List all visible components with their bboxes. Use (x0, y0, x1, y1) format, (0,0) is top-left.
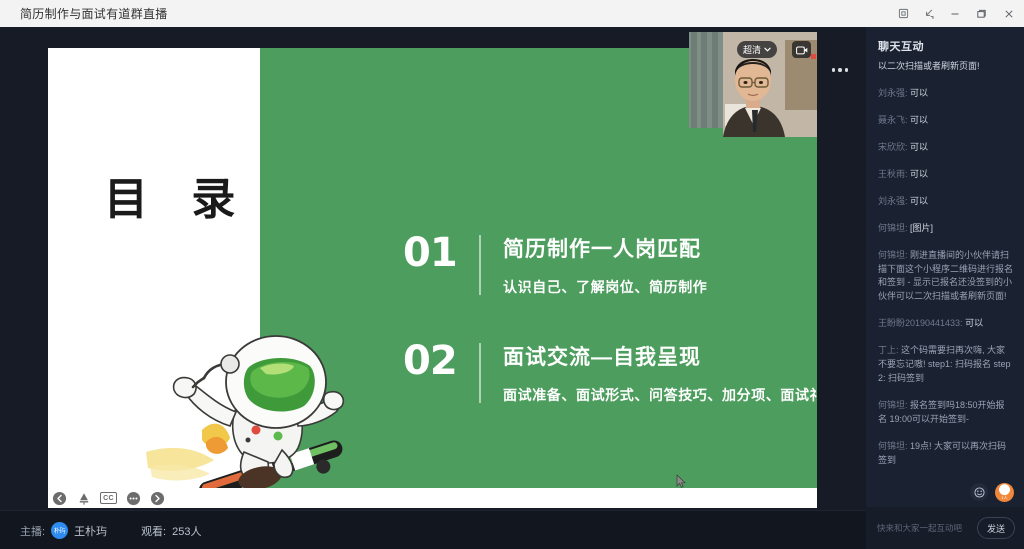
chat-message: 何锦坦: 刚进直播间的小伙伴请扫描下面这个小程序二维码进行报名和签到 - 显示已… (878, 249, 1013, 305)
slide-item-subtitle: 面试准备、面试形式、问答技巧、加分项、面试礼仪 (503, 385, 817, 405)
chat-message-author: 聂永飞: (878, 115, 908, 125)
mouse-cursor (676, 474, 687, 489)
slide-item-divider (479, 343, 481, 403)
window-title: 简历制作与面试有道群直播 (20, 5, 168, 22)
video-quality-selector[interactable]: 超清 (737, 41, 777, 58)
stream-info-bar: 主播: 朴玙 王朴玙 观看: 253人 标题: 钉钉直播 2022-04-14 (0, 510, 866, 549)
chat-message-text: 可以 (910, 196, 928, 206)
avatar-label: 1人 (995, 495, 1014, 501)
chat-message-text: 以二次扫描或者刷新页面! (878, 61, 980, 71)
chat-panel: 聊天互动 以二次扫描或者刷新页面! 刘永强: 可以 聂永飞: 可以 宋欣欣: 可… (866, 27, 1024, 549)
arrow-left-circle-icon[interactable] (52, 491, 67, 506)
chat-message-author: 何锦坦: (878, 223, 908, 233)
minimize-button[interactable] (942, 0, 968, 27)
close-button[interactable] (994, 0, 1024, 27)
window-title-bar: 简历制作与面试有道群直播 (0, 0, 1024, 27)
chat-message-author: 刘永强: (878, 196, 908, 206)
send-button[interactable]: 发送 (977, 517, 1015, 539)
chat-message-author: 何锦坦: (878, 250, 908, 260)
window-controls (890, 0, 1024, 27)
chat-message-author: 刘永强: (878, 88, 908, 98)
chat-message: 王秋雨: 可以 (878, 168, 1013, 182)
chat-message-text: 可以 (910, 169, 928, 179)
avatar: 朴玙 (51, 522, 68, 539)
chat-message: 何锦坦: 19点! 大家可以再次扫码签到 (878, 440, 1013, 468)
chat-panel-title: 聊天互动 (866, 27, 1024, 60)
chat-message: 王盼盼20190441433: 可以 (878, 317, 1013, 331)
chat-message-author: 何锦坦: (878, 400, 908, 410)
avatar[interactable]: 1人 (995, 483, 1014, 502)
chat-message-author: 何锦坦: (878, 441, 908, 451)
chat-tool-row: 1人 (866, 477, 1024, 507)
chat-input-row: 快来和大家一起互动吧 发送 (866, 507, 1024, 549)
cc-icon[interactable]: CC (100, 492, 117, 504)
host-label: 主播: (20, 523, 45, 539)
chat-message-text: 可以 (910, 142, 928, 152)
chat-input[interactable]: 快来和大家一起互动吧 (877, 522, 971, 534)
chat-message: 以二次扫描或者刷新页面! (878, 60, 1013, 74)
pointer-icon[interactable] (76, 491, 91, 506)
slide-item-number: 02 (403, 341, 475, 381)
slide-item-subtitle: 认识自己、了解岗位、简历制作 (503, 277, 707, 297)
chat-message: 宋欣欣: 可以 (878, 141, 1013, 155)
astronaut-illustration (144, 320, 374, 508)
slide-heading: 目 录 (104, 163, 249, 227)
chat-message: 刘永强: 可以 (878, 195, 1013, 209)
live-stage: 目 录 (0, 27, 866, 549)
more-dots-icon (845, 68, 849, 72)
host-info-line: 主播: 朴玙 王朴玙 观看: 253人 (20, 522, 866, 539)
chat-message-text: 可以 (910, 115, 928, 125)
chat-message-author: 王秋雨: (878, 169, 908, 179)
emoji-icon[interactable] (970, 483, 988, 501)
chat-message-author: 丁上: (878, 345, 899, 355)
restore-window-button[interactable] (890, 0, 916, 27)
chat-message: 丁上: 这个码需要扫再次嗨, 大家不要忘记嗷! step1: 扫码报名 step… (878, 344, 1013, 386)
camera-switch-icon[interactable] (792, 41, 811, 58)
chat-message: 刘永强: 可以 (878, 87, 1013, 101)
dingtalk-live-window: 简历制作与面试有道群直播 目 录 (0, 0, 1024, 549)
chat-message-author: 宋欣欣: (878, 142, 908, 152)
chat-message: 何锦坦: 报名签到吗18:50开始报名 19:00可以开始签到- (878, 399, 1013, 427)
minimize-to-corner-button[interactable] (916, 0, 942, 27)
recording-indicator (811, 54, 816, 59)
chat-message-text: 可以 (910, 88, 928, 98)
maximize-button[interactable] (968, 0, 994, 27)
more-horizontal-circle-icon[interactable] (126, 491, 141, 506)
slide-item-divider (479, 235, 481, 295)
chevron-down-icon (764, 47, 771, 52)
slide-item-02: 02 面试交流—自我呈现 面试准备、面试形式、问答技巧、加分项、面试礼仪 (403, 341, 817, 405)
more-dots-icon (838, 68, 842, 72)
arrow-right-circle-icon[interactable] (150, 491, 165, 506)
chat-message-text: 可以 (965, 318, 983, 328)
chat-message-list[interactable]: 以二次扫描或者刷新页面! 刘永强: 可以 聂永飞: 可以 宋欣欣: 可以 王秋雨… (866, 60, 1024, 477)
viewers-count: 253人 (172, 523, 201, 539)
viewers-label: 观看: (141, 523, 166, 539)
slide-item-01: 01 简历制作一人岗匹配 认识自己、了解岗位、简历制作 (403, 233, 707, 297)
slide-item-number: 01 (403, 233, 475, 273)
slide-item-title: 简历制作一人岗匹配 (503, 233, 707, 263)
video-quality-label: 超清 (743, 43, 761, 56)
chat-message-text: [图片] (910, 223, 933, 233)
video-more-options-button[interactable] (829, 62, 851, 78)
more-dots-icon (832, 68, 836, 72)
chat-message-author: 王盼盼20190441433: (878, 318, 963, 328)
slide-player-controls: CC (48, 488, 817, 508)
presenter-video[interactable]: 超清 (689, 32, 817, 137)
main-body: 目 录 (0, 27, 1024, 549)
chat-message: 何锦坦: [图片] (878, 222, 1013, 236)
slide-item-title: 面试交流—自我呈现 (503, 341, 817, 371)
chat-message: 聂永飞: 可以 (878, 114, 1013, 128)
host-name: 王朴玙 (74, 523, 107, 539)
